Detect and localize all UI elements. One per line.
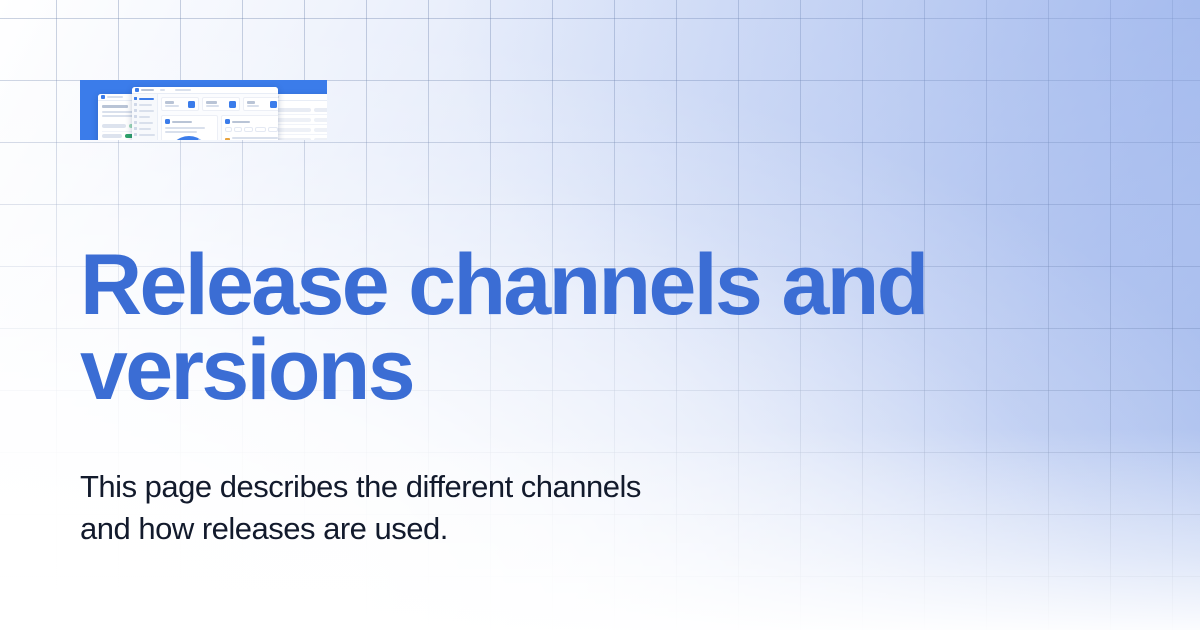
sidebar-item-label xyxy=(139,116,150,118)
panel-title xyxy=(172,121,192,123)
stat-label xyxy=(247,105,259,107)
score-panel xyxy=(161,115,218,140)
filter-chip-row xyxy=(225,127,278,132)
product-screenshot-thumbnail xyxy=(80,80,327,140)
box-icon xyxy=(134,109,137,112)
gear-icon xyxy=(134,133,137,136)
stat-label xyxy=(206,105,219,107)
dashboard-sidebar xyxy=(132,94,158,140)
thumbnail-inner xyxy=(80,80,327,140)
activity-column xyxy=(221,115,279,140)
shield-icon xyxy=(165,119,170,124)
sidebar-item-label xyxy=(139,104,152,106)
sidebar-item-label xyxy=(139,122,153,124)
sidebar-item-label xyxy=(139,110,154,112)
sidebar-item-reports[interactable] xyxy=(134,103,155,106)
gauge-container xyxy=(165,135,214,141)
sidebar-item-users[interactable] xyxy=(134,121,155,124)
stat-card[interactable] xyxy=(161,97,199,111)
plug-icon xyxy=(134,127,137,130)
activity-panel xyxy=(221,115,279,140)
og-banner: Release channels and versions This page … xyxy=(0,0,1200,630)
stat-icon xyxy=(188,101,195,108)
stat-value xyxy=(206,101,217,104)
stat-text xyxy=(165,101,179,108)
sidebar-item-alerts[interactable] xyxy=(134,115,155,118)
dashboard-body xyxy=(132,94,278,140)
sidebar-item-settings[interactable] xyxy=(134,133,155,136)
text-line xyxy=(232,137,278,139)
section-title xyxy=(102,105,128,108)
filter-chip[interactable] xyxy=(225,127,232,132)
cell xyxy=(314,108,327,112)
sidebar-item-integrations[interactable] xyxy=(134,127,155,130)
sidebar-item-overview[interactable] xyxy=(134,97,155,100)
filter-chip[interactable] xyxy=(244,127,253,132)
user-icon xyxy=(134,121,137,124)
list-icon xyxy=(225,119,230,124)
gauge-column xyxy=(161,115,218,140)
app-name-label xyxy=(141,89,154,91)
sidebar-item-label xyxy=(139,98,154,100)
stat-card[interactable] xyxy=(243,97,278,111)
stat-value xyxy=(165,101,174,104)
page-subtitle: This page describes the different channe… xyxy=(80,466,880,550)
stat-icon xyxy=(270,101,277,108)
list-item[interactable] xyxy=(225,135,278,140)
list-item-text xyxy=(232,137,278,140)
app-logo-icon xyxy=(135,88,139,92)
cell xyxy=(314,138,327,141)
sidebar-item-label xyxy=(139,134,155,136)
breadcrumb-separator xyxy=(160,89,165,91)
cell-label xyxy=(102,124,126,128)
titlebar-label xyxy=(107,96,123,98)
progress-gauge xyxy=(168,136,210,141)
front-dashboard-window xyxy=(132,87,278,140)
sidebar-item-assets[interactable] xyxy=(134,109,155,112)
stat-card[interactable] xyxy=(202,97,240,111)
grid-icon xyxy=(134,97,137,100)
panel-header xyxy=(225,119,278,124)
bell-icon xyxy=(134,115,137,118)
stat-value xyxy=(247,101,255,104)
filter-chip[interactable] xyxy=(255,127,266,132)
cell-label xyxy=(102,134,122,138)
filter-chip[interactable] xyxy=(268,127,278,132)
dashboard-columns xyxy=(161,115,279,140)
filter-chip[interactable] xyxy=(234,127,242,132)
app-logo-icon xyxy=(101,95,105,99)
panel-text-line xyxy=(165,127,205,129)
stat-text xyxy=(247,101,259,108)
panel-text-line xyxy=(165,131,197,133)
page-title-label xyxy=(175,89,191,91)
stat-card-row xyxy=(161,97,279,111)
page-title: Release channels and versions xyxy=(80,243,1090,413)
warning-icon xyxy=(225,138,230,141)
window-titlebar xyxy=(132,87,278,94)
dashboard-main xyxy=(158,94,279,140)
cell xyxy=(314,128,327,132)
panel-header xyxy=(165,119,214,124)
stat-text xyxy=(206,101,219,108)
stat-label xyxy=(165,105,179,107)
cell xyxy=(314,118,327,122)
stat-icon xyxy=(229,101,236,108)
sidebar-item-label xyxy=(139,128,151,130)
chart-icon xyxy=(134,103,137,106)
panel-title xyxy=(232,121,250,123)
